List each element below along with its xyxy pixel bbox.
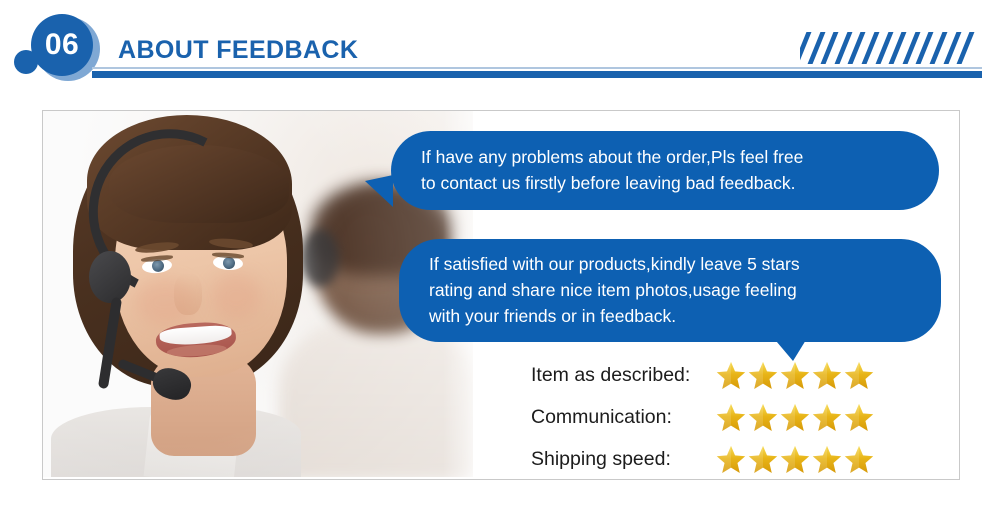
section-number-badge: 06 xyxy=(31,14,93,76)
bubble-2-line-2: rating and share nice item photos,usage … xyxy=(429,277,915,303)
star-icon xyxy=(748,403,778,432)
star-icon xyxy=(780,403,810,432)
section-number: 06 xyxy=(45,30,79,60)
star-icon xyxy=(812,445,842,474)
bubble-1-line-2: to contact us firstly before leaving bad… xyxy=(421,170,913,196)
star-icon xyxy=(748,445,778,474)
rating-row-item-as-described: Item as described: xyxy=(531,354,951,396)
star-icon xyxy=(844,361,874,390)
rating-list: Item as described: Communication: Shippi… xyxy=(531,354,951,480)
rating-row-communication: Communication: xyxy=(531,396,951,438)
diagonal-stripes-decoration xyxy=(800,32,980,64)
rating-label: Item as described: xyxy=(531,364,716,387)
star-icon xyxy=(748,361,778,390)
content-panel: If have any problems about the order,Pls… xyxy=(42,110,960,480)
star-icon xyxy=(844,403,874,432)
star-icon xyxy=(780,445,810,474)
header-rule-thick xyxy=(92,71,982,78)
bubble-2-line-1: If satisfied with our products,kindly le… xyxy=(429,251,915,277)
star-icon xyxy=(812,361,842,390)
rating-row-shipping-speed: Shipping speed: xyxy=(531,438,951,480)
star-rating-shipping-speed xyxy=(716,445,874,474)
star-icon xyxy=(780,361,810,390)
star-icon xyxy=(716,361,746,390)
rating-label: Shipping speed: xyxy=(531,448,716,471)
star-icon xyxy=(812,403,842,432)
star-icon xyxy=(716,445,746,474)
background-person-headset xyxy=(301,229,339,287)
bubble-2-line-3: with your friends or in feedback. xyxy=(429,303,915,329)
bubble-1-line-1: If have any problems about the order,Pls… xyxy=(421,144,913,170)
star-rating-item-as-described xyxy=(716,361,874,390)
page-title: ABOUT FEEDBACK xyxy=(118,36,358,65)
header-rule-thin xyxy=(92,67,982,69)
star-rating-communication xyxy=(716,403,874,432)
speech-bubble-rating-request: If satisfied with our products,kindly le… xyxy=(399,239,941,342)
feedback-banner: 06 ABOUT FEEDBACK xyxy=(0,0,1000,513)
headset-earcup xyxy=(89,251,131,303)
speech-bubble-problems: If have any problems about the order,Pls… xyxy=(391,131,939,210)
star-icon xyxy=(844,445,874,474)
bubble-tail-left xyxy=(365,175,393,207)
section-header: 06 ABOUT FEEDBACK xyxy=(0,0,1000,95)
photo-teeth xyxy=(159,325,232,347)
rating-label: Communication: xyxy=(531,406,716,429)
star-icon xyxy=(716,403,746,432)
